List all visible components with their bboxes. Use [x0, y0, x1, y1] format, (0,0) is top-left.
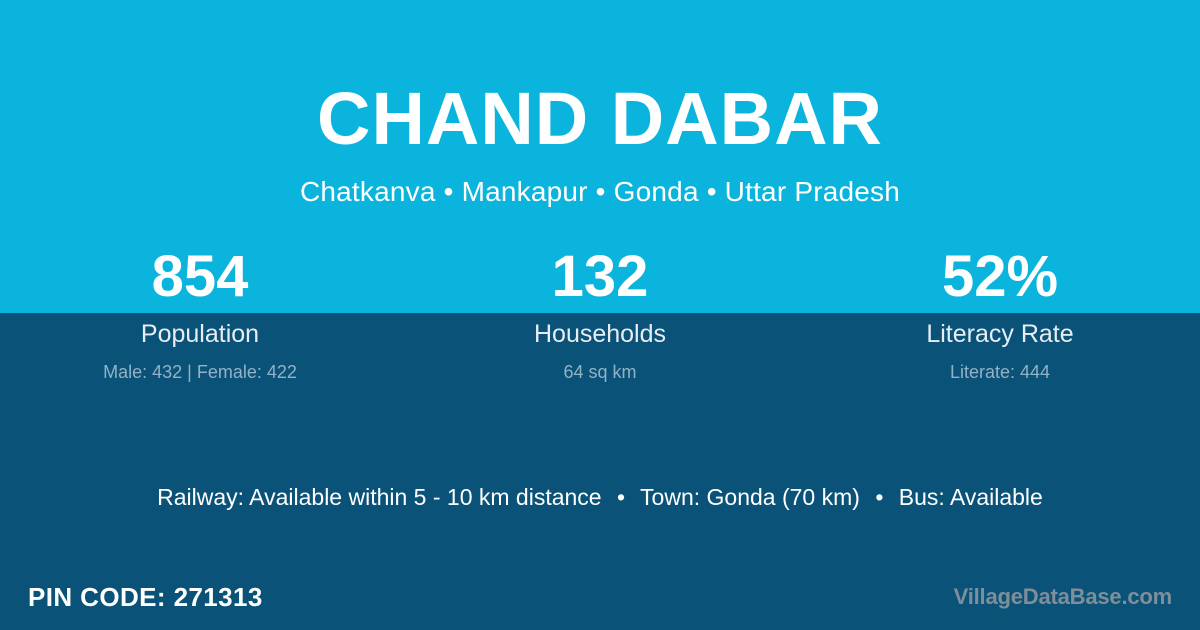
stat-value-population: 854: [152, 240, 249, 313]
stat-households: 132 Households 64 sq km: [400, 240, 800, 381]
town-info: Town: Gonda (70 km): [640, 484, 860, 510]
stat-label-population: Population: [141, 322, 259, 347]
connectivity-info: Railway: Available within 5 - 10 km dist…: [0, 486, 1200, 509]
breadcrumb: Chatkanva • Mankapur • Gonda • Uttar Pra…: [300, 178, 900, 206]
stat-value-literacy-rate: 52%: [942, 240, 1058, 313]
stat-label-literacy-rate: Literacy Rate: [926, 322, 1073, 347]
bus-info: Bus: Available: [899, 484, 1043, 510]
footer: PIN CODE: 271313 VillageDataBase.com: [0, 568, 1200, 630]
stats-row: 854 Population Male: 432 | Female: 422 1…: [0, 240, 1200, 381]
pin-code: PIN CODE: 271313: [28, 584, 263, 610]
bullet-separator-2: •: [866, 486, 892, 509]
village-info-card: CHAND DABAR Chatkanva • Mankapur • Gonda…: [0, 0, 1200, 630]
stat-population: 854 Population Male: 432 | Female: 422: [0, 240, 400, 381]
stat-sub-population: Male: 432 | Female: 422: [103, 363, 297, 381]
header: CHAND DABAR Chatkanva • Mankapur • Gonda…: [0, 0, 1200, 240]
stat-label-households: Households: [534, 322, 666, 347]
stat-literacy-rate: 52% Literacy Rate Literate: 444: [800, 240, 1200, 381]
site-watermark: VillageDataBase.com: [954, 586, 1172, 608]
bullet-separator-1: •: [608, 486, 634, 509]
railway-info: Railway: Available within 5 - 10 km dist…: [157, 484, 601, 510]
stat-sub-households: 64 sq km: [563, 363, 636, 381]
page-title: CHAND DABAR: [317, 82, 883, 156]
stat-sub-literacy-rate: Literate: 444: [950, 363, 1050, 381]
stat-value-households: 132: [552, 240, 649, 313]
